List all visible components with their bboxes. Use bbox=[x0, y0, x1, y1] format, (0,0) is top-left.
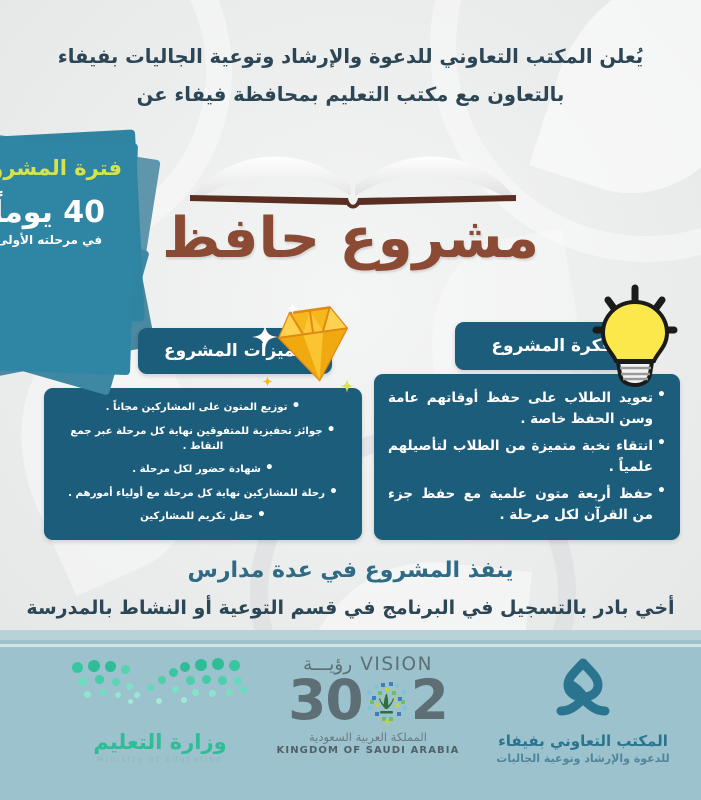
office-mosque-mark-icon bbox=[546, 658, 620, 720]
idea-bullet-list: تعويد الطلاب على حفظ أوقاتهم عامة وسن ال… bbox=[388, 388, 666, 532]
duration-badge-label: فترة المشروع bbox=[0, 156, 134, 182]
list-item: شهادة حضور لكل مرحلة . bbox=[56, 460, 350, 478]
footer-divider bbox=[0, 644, 701, 647]
ministry-of-education-logo: وزارة التعليم Ministry of Education bbox=[30, 656, 290, 764]
headline-line-1: يُعلن المكتب التعاوني للدعوة والإرشاد وت… bbox=[0, 38, 701, 76]
list-item: رحلة للمشاركين نهاية كل مرحلة مع أولياء … bbox=[56, 484, 350, 502]
list-item: حفل تكريم للمشاركين bbox=[56, 507, 350, 525]
list-item: توزيع المتون على المشاركين مجاناً . bbox=[56, 398, 350, 416]
office-subtitle: للدعوة والإرشاد وتوعية الجاليات bbox=[468, 752, 698, 765]
cta-primary: ينفذ المشروع في عدة مدارس bbox=[0, 558, 701, 583]
vision-year-left: 2 bbox=[411, 673, 448, 728]
vision-kingdom-en: KINGDOM OF SAUDI ARABIA bbox=[268, 745, 468, 756]
headline-block: يُعلن المكتب التعاوني للدعوة والإرشاد وت… bbox=[0, 38, 701, 114]
footer-bar: وزارة التعليم Ministry of Education VISI… bbox=[0, 640, 701, 800]
list-item: جوائز تحفيزية للمتفوقين نهاية كل مرحلة ع… bbox=[56, 422, 350, 455]
features-bullet-list: توزيع المتون على المشاركين مجاناً . جوائ… bbox=[56, 398, 350, 531]
cooperative-office-logo: المكتب التعاوني بفيفاء للدعوة والإرشاد و… bbox=[468, 656, 698, 765]
cta-secondary: أخي بادر بالتسجيل في البرنامج في قسم الت… bbox=[0, 597, 701, 619]
palm-swords-dots-icon bbox=[361, 675, 413, 727]
open-book-icon bbox=[188, 138, 518, 216]
page-title: مشروع حافظ bbox=[0, 206, 701, 271]
vision-year-right: 30 bbox=[288, 673, 363, 728]
moe-subtitle: Ministry of Education bbox=[30, 755, 290, 764]
lightbulb-icon bbox=[588, 282, 684, 390]
features-card: توزيع المتون على المشاركين مجاناً . جوائ… bbox=[44, 388, 362, 540]
vision-2030-logo: VISION رؤيـــة 2 bbox=[268, 654, 468, 756]
poster-canvas: يُعلن المكتب التعاوني للدعوة والإرشاد وت… bbox=[0, 0, 701, 800]
list-item: حفظ أربعة متون علمية مع حفظ جزء من القرآ… bbox=[388, 484, 666, 526]
vision-kingdom-ar: المملكة العربية السعودية bbox=[268, 730, 468, 744]
vision-year: 2 bbox=[268, 673, 468, 728]
list-item: تعويد الطلاب على حفظ أوقاتهم عامة وسن ال… bbox=[388, 388, 666, 430]
list-item: انتقاء نخبة متميزة من الطلاب لتأصيلهم عل… bbox=[388, 436, 666, 478]
moe-name: وزارة التعليم bbox=[30, 730, 290, 754]
idea-card: تعويد الطلاب على حفظ أوقاتهم عامة وسن ال… bbox=[374, 374, 680, 540]
moe-dot-pattern-icon bbox=[68, 656, 253, 708]
office-name: المكتب التعاوني بفيفاء bbox=[468, 732, 698, 750]
diamond-icon bbox=[276, 300, 352, 386]
headline-line-2: بالتعاون مع مكتب التعليم بمحافظة فيفاء ع… bbox=[0, 76, 701, 114]
